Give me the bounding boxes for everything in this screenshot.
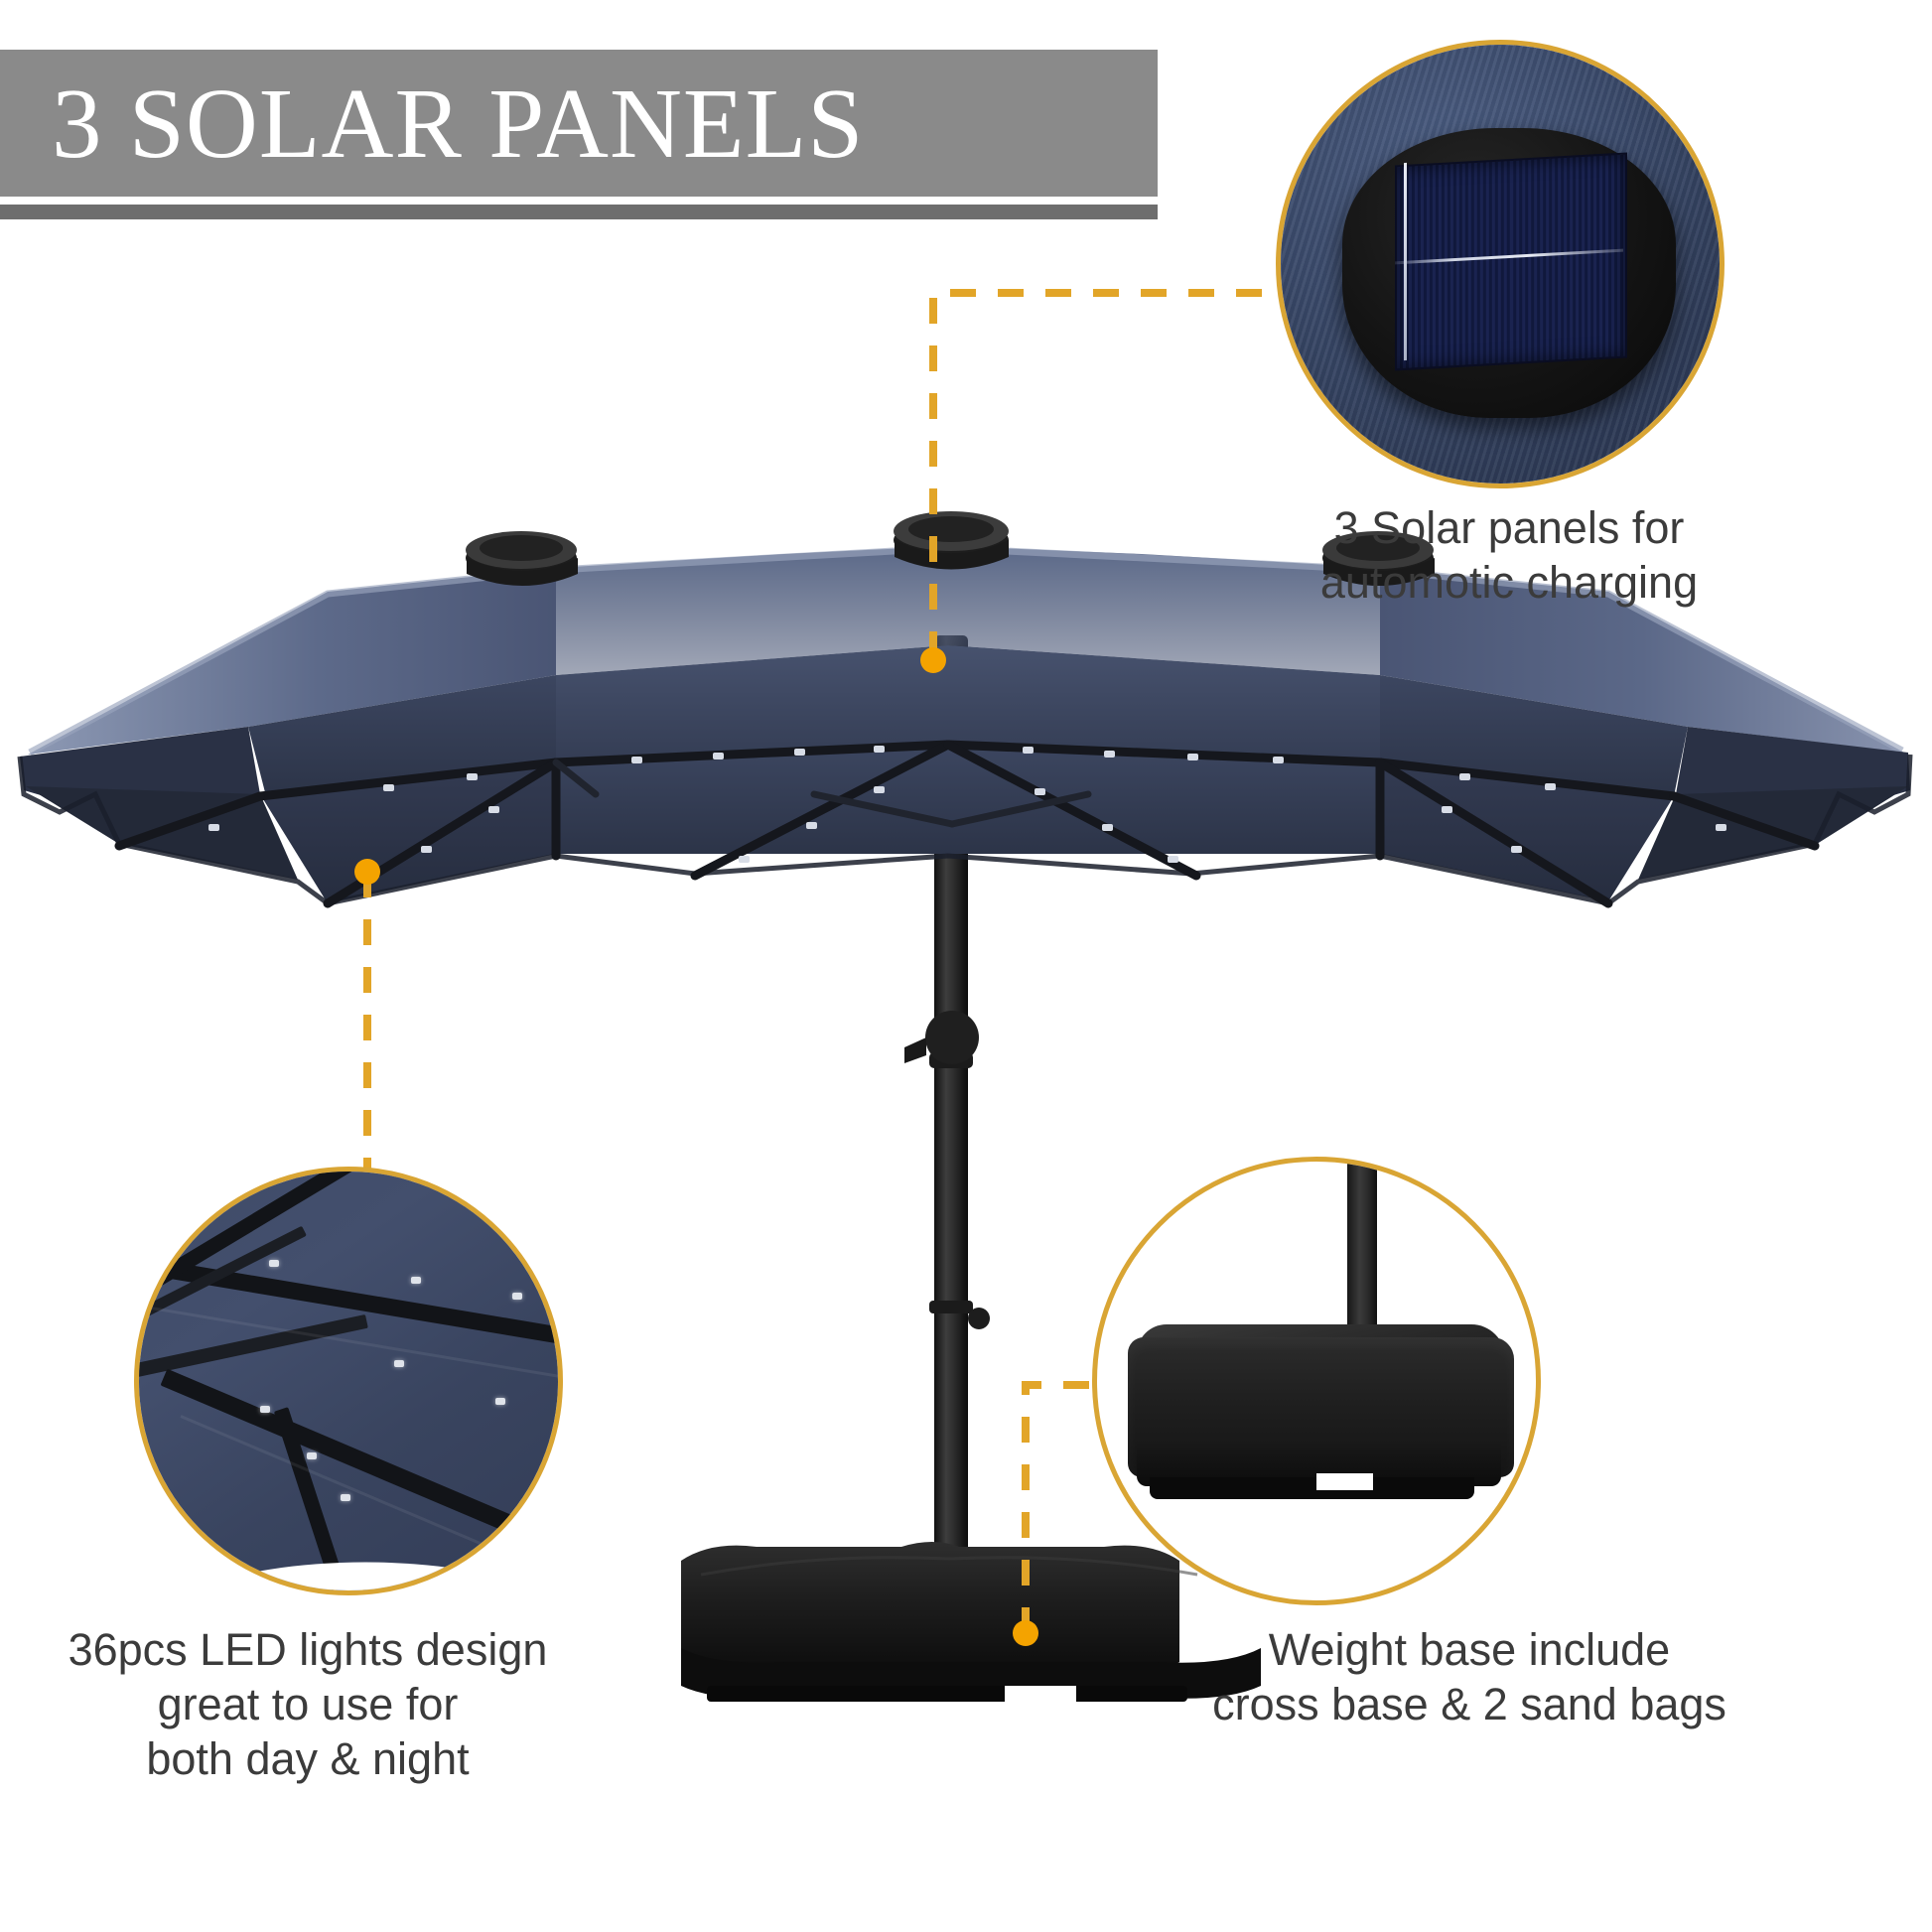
- callout-circle-weight-base: [1092, 1157, 1541, 1605]
- infographic-canvas: 3 SOLAR PANELS: [0, 0, 1932, 1932]
- solar-panel-detail-icon: [1281, 45, 1720, 483]
- anchor-dot-solar: [920, 647, 946, 673]
- anchor-dot-led: [354, 859, 380, 885]
- callout-circle-solar-panel: [1276, 40, 1725, 488]
- caption-led-lights: 36pcs LED lights design great to use for…: [10, 1623, 606, 1787]
- led-canopy-underside-icon: [139, 1172, 558, 1590]
- caption-weight-base: Weight base include cross base & 2 sand …: [1013, 1623, 1926, 1732]
- callout-circle-led-lights: [134, 1167, 563, 1595]
- weight-base-detail-icon: [1097, 1162, 1536, 1600]
- caption-solar-panel: 3 Solar panels for automotic charging: [1082, 501, 1932, 611]
